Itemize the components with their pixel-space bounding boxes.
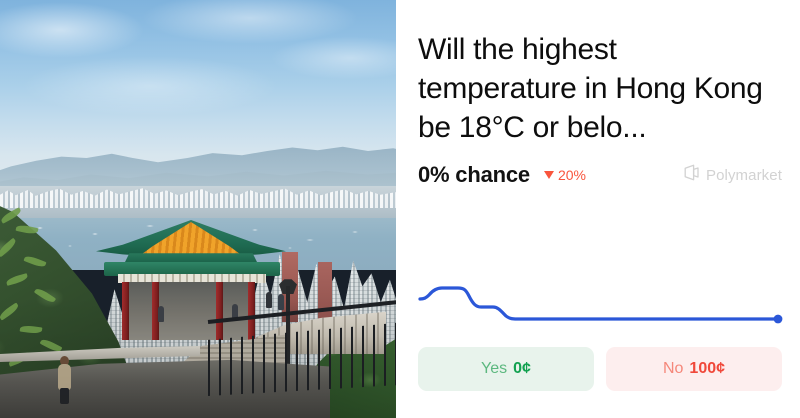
no-label: No: [663, 360, 683, 378]
pedestrian-legs: [60, 388, 69, 404]
hong-kong-peak-photo: [0, 0, 396, 418]
market-card-screenshot: Will the highest temperature in Hong Kon…: [0, 0, 800, 418]
pavilion-column: [248, 282, 255, 340]
market-image: [0, 0, 396, 418]
page-title: Will the highest temperature in Hong Kon…: [418, 30, 774, 147]
pavilion-column: [216, 282, 223, 340]
triangle-down-icon: [544, 171, 554, 179]
visitor-figure: [278, 294, 284, 310]
chart-line-yes: [420, 288, 778, 319]
visitor-figure: [266, 292, 272, 308]
buy-yes-button[interactable]: Yes 0¢: [418, 347, 594, 391]
polymarket-logo-icon: [683, 164, 700, 186]
market-info-panel: Will the highest temperature in Hong Kon…: [396, 0, 800, 418]
change-value: 20%: [558, 167, 586, 183]
pedestrian: [56, 356, 72, 404]
pedestrian-coat: [58, 364, 71, 390]
market-stats-row: 0% chance 20% Polymarket: [418, 160, 782, 190]
yes-label: Yes: [481, 360, 507, 378]
chart-endpoint-marker: [774, 315, 783, 324]
no-price: 100¢: [689, 360, 725, 378]
visitor-figure: [158, 306, 164, 322]
brand-attribution: Polymarket: [683, 164, 782, 186]
yes-price: 0¢: [513, 360, 531, 378]
price-history-chart: [418, 255, 784, 335]
trade-actions: Yes 0¢ No 100¢: [418, 347, 782, 391]
chance-value: 0% chance: [418, 162, 530, 188]
chinese-pavilion: [96, 214, 286, 344]
pavilion-column: [122, 282, 129, 340]
tower-highrise-b: [318, 262, 332, 322]
change-indicator: 20%: [544, 167, 586, 183]
buy-no-button[interactable]: No 100¢: [606, 347, 782, 391]
brand-name: Polymarket: [706, 167, 782, 184]
